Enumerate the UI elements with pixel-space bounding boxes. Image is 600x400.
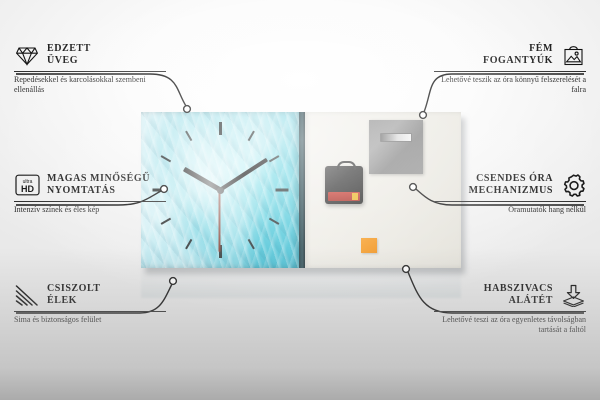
- feature-header: CSENDES ÓRA MECHANIZMUS: [434, 172, 586, 198]
- feature-title: FÉM FOGANTYÚK: [483, 43, 553, 68]
- product-image: [141, 112, 461, 270]
- feature-description: Repedésekkel és karcolásokkal szembeni e…: [14, 75, 166, 95]
- clock-marker: [185, 131, 192, 142]
- feature-divider: [434, 311, 586, 312]
- svg-text:HD: HD: [21, 184, 34, 194]
- hour-hand: [182, 167, 221, 192]
- feature-description: Lehetővé teszik az óra könnyű felszerelé…: [434, 75, 586, 95]
- foam-pad-part: [361, 238, 377, 253]
- feature-hd-print: ultra HD MAGAS MINŐSÉGŰ NYOMTATÁS Intenz…: [14, 172, 166, 215]
- battery: [328, 192, 360, 201]
- feature-header: HABSZIVACS ALÁTÉT: [434, 282, 586, 308]
- feature-title: CSENDES ÓRA MECHANIZMUS: [469, 173, 553, 198]
- feature-header: EDZETT ÜVEG: [14, 42, 166, 68]
- clock-marker: [248, 239, 255, 250]
- feature-polished-edges: CSISZOLT ÉLEK Sima és biztonságos felüle…: [14, 282, 166, 325]
- clock-marker: [248, 131, 255, 142]
- feature-description: Óramutatók hang nélkül: [434, 205, 586, 215]
- clock-marker: [269, 218, 280, 225]
- gear-icon: [560, 173, 586, 197]
- feature-title: HABSZIVACS ALÁTÉT: [484, 283, 553, 308]
- feature-description: Sima és biztonságos felület: [14, 315, 166, 325]
- feature-tempered-glass: EDZETT ÜVEG Repedésekkel és karcolásokka…: [14, 42, 166, 95]
- stacked-arrow-down-icon: [560, 283, 586, 307]
- feature-silent-mechanism: CSENDES ÓRA MECHANIZMUS Óramutatók hang …: [434, 172, 586, 215]
- feature-divider: [14, 71, 166, 72]
- clock-marker: [219, 245, 222, 258]
- bevel-lines-icon: [14, 283, 40, 307]
- feature-title: MAGAS MINŐSÉGŰ NYOMTATÁS: [47, 173, 150, 198]
- feature-divider: [14, 311, 166, 312]
- feature-title: EDZETT ÜVEG: [47, 43, 91, 68]
- product-reflection: [141, 268, 461, 298]
- clock-mechanism-part: [325, 166, 363, 204]
- feature-divider: [14, 201, 166, 202]
- metal-hanger-part: [369, 120, 423, 174]
- minute-hand: [219, 158, 268, 192]
- clock-marker: [161, 155, 172, 162]
- feature-header: CSISZOLT ÉLEK: [14, 282, 166, 308]
- hand-cap: [217, 187, 224, 194]
- picture-frame-hanger-icon: [560, 43, 586, 67]
- second-hand: [219, 190, 221, 252]
- feature-header: FÉM FOGANTYÚK: [434, 42, 586, 68]
- feature-description: Intenzív színek és éles kép: [14, 205, 166, 215]
- mechanism-shaft: [337, 161, 356, 170]
- feature-metal-handles: FÉM FOGANTYÚK Lehetővé teszik az óra kön…: [434, 42, 586, 95]
- feature-description: Lehetővé teszi az óra egyenletes távolsá…: [434, 315, 586, 335]
- infographic-canvas: EDZETT ÜVEG Repedésekkel és karcolásokka…: [0, 0, 600, 400]
- feature-divider: [434, 71, 586, 72]
- diamond-icon: [14, 43, 40, 67]
- ultra-hd-icon: ultra HD: [14, 173, 40, 197]
- feature-title: CSISZOLT ÉLEK: [47, 283, 101, 308]
- feature-foam-backing: HABSZIVACS ALÁTÉT Lehetővé teszi az óra …: [434, 282, 586, 335]
- feature-divider: [434, 201, 586, 202]
- clock-marker: [219, 122, 222, 135]
- feature-header: ultra HD MAGAS MINŐSÉGŰ NYOMTATÁS: [14, 172, 166, 198]
